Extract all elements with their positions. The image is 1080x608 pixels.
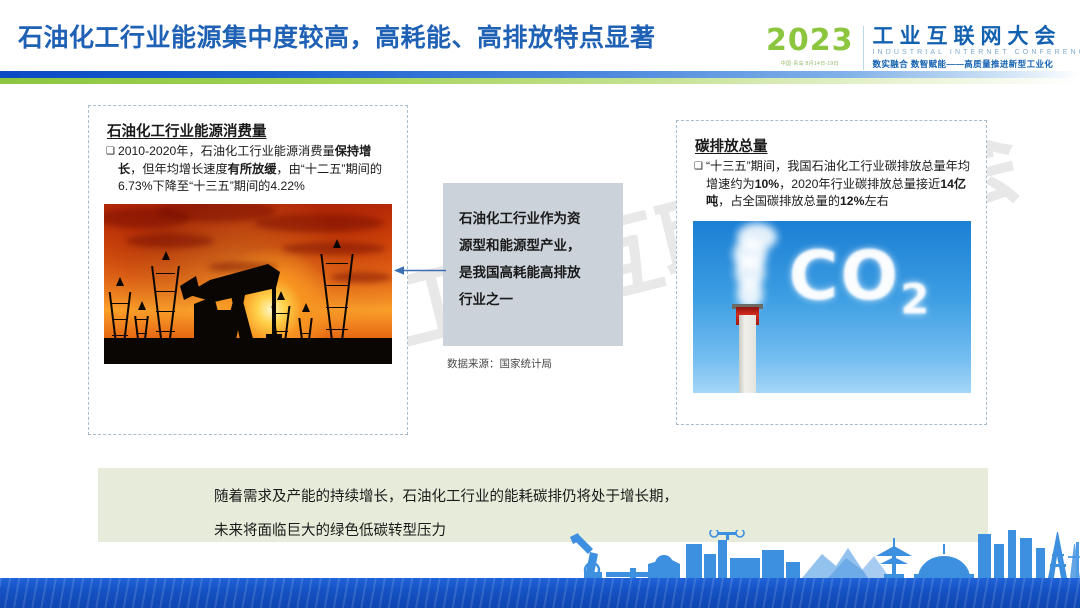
- co2-smokestack-photo: CO2: [693, 221, 971, 393]
- emphasis-text: 10%: [755, 177, 779, 191]
- smokestack: [739, 315, 756, 393]
- callout-line: 源型和能源型产业，: [459, 232, 607, 259]
- derrick-tower: [326, 246, 348, 346]
- derrick-tower: [112, 284, 128, 346]
- skyline-silhouette: [0, 530, 1080, 580]
- panel-carbon-emissions: 碳排放总量 ❑ “十三五”期间，我国石油化工行业碳排放总量年均增速约为10%，2…: [676, 120, 987, 425]
- footer-decoration: [0, 530, 1080, 608]
- panel-right-bullet-text: “十三五”期间，我国石油化工行业碳排放总量年均增速约为10%，2020年行业碳排…: [706, 158, 976, 211]
- center-callout-box: 石油化工行业作为资 源型和能源型产业， 是我国高耗能高排放 行业之一: [443, 183, 623, 346]
- conference-logo: 2023 中国·青岛 8月14日-19日 工业互联网大会 INDUSTRIAL …: [766, 26, 1080, 76]
- panel-left-bullet-text: 2010-2020年，石油化工行业能源消费量保持增长，但年均增长速度有所放缓，由…: [118, 143, 393, 196]
- logo-date-location: 中国·青岛 8月14日-19日: [781, 60, 839, 67]
- source-note: 数据来源：国家统计局: [447, 356, 552, 371]
- panel-right-heading: 碳排放总量: [695, 135, 986, 156]
- co2-smoke-lettering: CO2: [789, 243, 932, 321]
- panel-right-bullet: ❑ “十三五”期间，我国石油化工行业碳排放总量年均增速约为10%，2020年行业…: [694, 158, 976, 211]
- pumpjack-silhouette: [180, 246, 284, 350]
- derrick-tower: [156, 258, 175, 346]
- square-bullet-icon: ❑: [106, 143, 115, 160]
- smoke-plume: [737, 223, 777, 251]
- body-text: ，占全国碳排放总量的: [718, 194, 840, 208]
- callout-line: 石油化工行业作为资: [459, 205, 607, 232]
- summary-line-1: 随着需求及产能的持续增长，石油化工行业的能耗碳排仍将处于增长期，: [214, 468, 988, 505]
- cloud-shape: [254, 214, 384, 232]
- panel-left-heading: 石油化工行业能源消费量: [107, 120, 407, 141]
- callout-line: 行业之一: [459, 286, 607, 313]
- body-text: ，但年均增长速度: [130, 162, 228, 176]
- callout-line: 是我国高耗能高排放: [459, 259, 607, 286]
- logo-divider: [863, 26, 864, 70]
- logo-year-block: 2023 中国·青岛 8月14日-19日: [766, 26, 863, 67]
- logo-title-english: INDUSTRIAL INTERNET CONFERENCE: [873, 49, 1080, 56]
- oil-field-sunset-photo: [104, 204, 392, 364]
- slide-canvas: 石油化工行业能源集中度较高，高耗能、高排放特点显著 2023 中国·青岛 8月1…: [0, 0, 1080, 608]
- logo-title-chinese: 工业互联网大会: [873, 26, 1080, 48]
- logo-text-block: 工业互联网大会 INDUSTRIAL INTERNET CONFERENCE 数…: [873, 26, 1080, 70]
- body-text: 左右: [864, 194, 888, 208]
- emphasis-text: 12%: [840, 194, 864, 208]
- panel-left-bullet: ❑ 2010-2020年，石油化工行业能源消费量保持增长，但年均增长速度有所放缓…: [106, 143, 393, 196]
- logo-subtitle-chinese: 数实融合 数智赋能——高质量推进新型工业化: [873, 58, 1080, 70]
- footer-water-band: [0, 578, 1080, 608]
- logo-year: 2023: [766, 26, 854, 56]
- square-bullet-icon: ❑: [694, 158, 703, 175]
- emphasis-text: 有所放缓: [228, 162, 277, 176]
- body-text: 2010-2020年，石油化工行业能源消费量: [118, 144, 335, 158]
- header-rule-green: [0, 78, 1080, 84]
- ground-silhouette: [104, 338, 392, 364]
- page-title: 石油化工行业能源集中度较高，高耗能、高排放特点显著: [18, 18, 656, 54]
- panel-energy-consumption: 石油化工行业能源消费量 ❑ 2010-2020年，石油化工行业能源消费量保持增长…: [88, 105, 408, 435]
- left-pointing-arrow-icon: [394, 266, 446, 275]
- body-text: ，2020年行业碳排放总量接近: [779, 177, 940, 191]
